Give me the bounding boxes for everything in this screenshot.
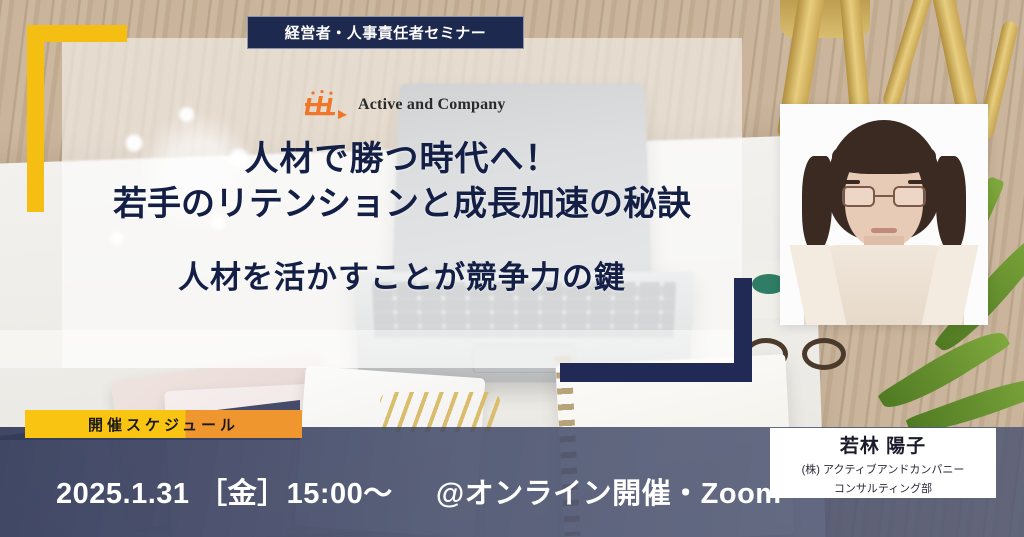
speaker-card: 若林 陽子 (株) アクティブアンドカンパニー コンサルティング部 [770,428,996,498]
active-and-company-logo-icon [305,90,349,120]
schedule-pill: 開催スケジュール [25,410,302,438]
speaker-name: 若林 陽子 [840,431,926,458]
speaker-portrait-image [780,104,988,325]
hero-title: 人材で勝つ時代へ！ 若手のリテンションと成長加速の秘訣 [62,138,742,226]
hero-subtitle: 人材を活かすことが競争力の鍵 [62,252,742,297]
speaker-department: コンサルティング部 [834,480,932,496]
hero-title-line2: 若手のリテンションと成長加速の秘訣 [62,182,742,226]
hero-title-line1: 人材で勝つ時代へ！ [62,138,742,182]
badge-label: 経営者・人事責任者セミナー [285,22,487,43]
speaker-photo [780,104,988,325]
speaker-organization: (株) アクティブアンドカンパニー [802,461,965,477]
schedule-date: 2025.1.31 ［金］15:00〜 [56,478,393,510]
schedule-dateline: 2025.1.31 ［金］15:00〜 @オンライン開催・Zoom [56,470,782,512]
seminar-audience-badge: 経営者・人事責任者セミナー [247,16,524,49]
brand-logo: Active and Company [305,90,506,120]
schedule-pill-label: 開催スケジュール [88,414,239,435]
brand-logo-text: Active and Company [358,96,506,114]
paper-clips [380,392,500,432]
schedule-venue: @オンライン開催・Zoom [436,478,782,510]
seminar-banner: 経営者・人事責任者セミナー Active and Company 人材で勝つ時代… [0,0,1024,537]
